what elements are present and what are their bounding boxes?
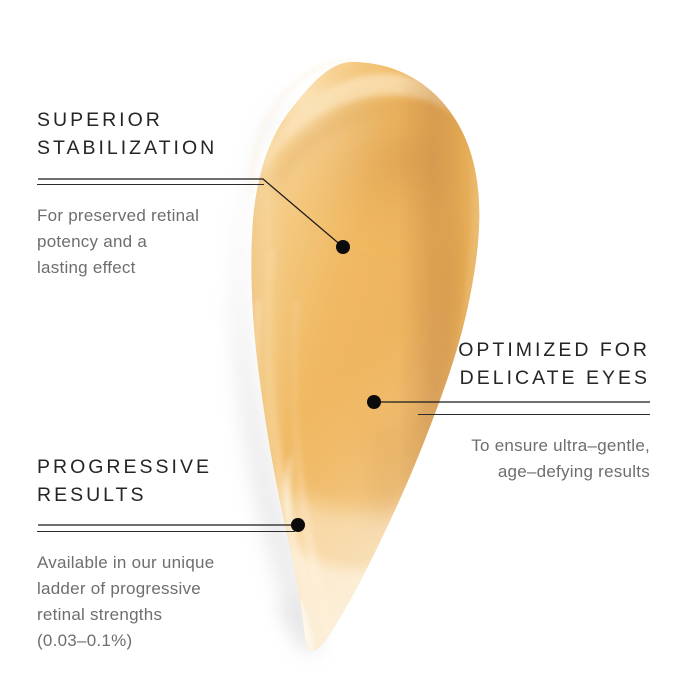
marker-dot-superior-stabilization: [336, 240, 350, 254]
callout-rule-optimized-delicate-eyes: [418, 414, 650, 415]
callout-superior-stabilization: SUPERIOR STABILIZATION For preserved ret…: [37, 107, 277, 281]
callout-body-progressive-results: Available in our unique ladder of progre…: [37, 550, 287, 653]
callout-heading-progressive-results: PROGRESSIVE RESULTS: [37, 454, 287, 509]
callout-progressive-results: PROGRESSIVE RESULTS Available in our uni…: [37, 454, 287, 654]
marker-dot-optimized-delicate-eyes: [367, 395, 381, 409]
product-infographic: SUPERIOR STABILIZATION For preserved ret…: [0, 0, 679, 679]
callout-body-optimized-delicate-eyes: To ensure ultra–gentle, age–defying resu…: [388, 433, 650, 485]
callout-rule-progressive-results: [37, 531, 295, 532]
callout-optimized-delicate-eyes: OPTIMIZED FOR DELICATE EYES To ensure ul…: [388, 337, 650, 485]
marker-dot-progressive-results: [291, 518, 305, 532]
callout-heading-optimized-delicate-eyes: OPTIMIZED FOR DELICATE EYES: [388, 337, 650, 392]
callout-body-superior-stabilization: For preserved retinal potency and a last…: [37, 203, 277, 280]
callout-heading-superior-stabilization: SUPERIOR STABILIZATION: [37, 107, 277, 162]
callout-rule-superior-stabilization: [37, 184, 264, 185]
